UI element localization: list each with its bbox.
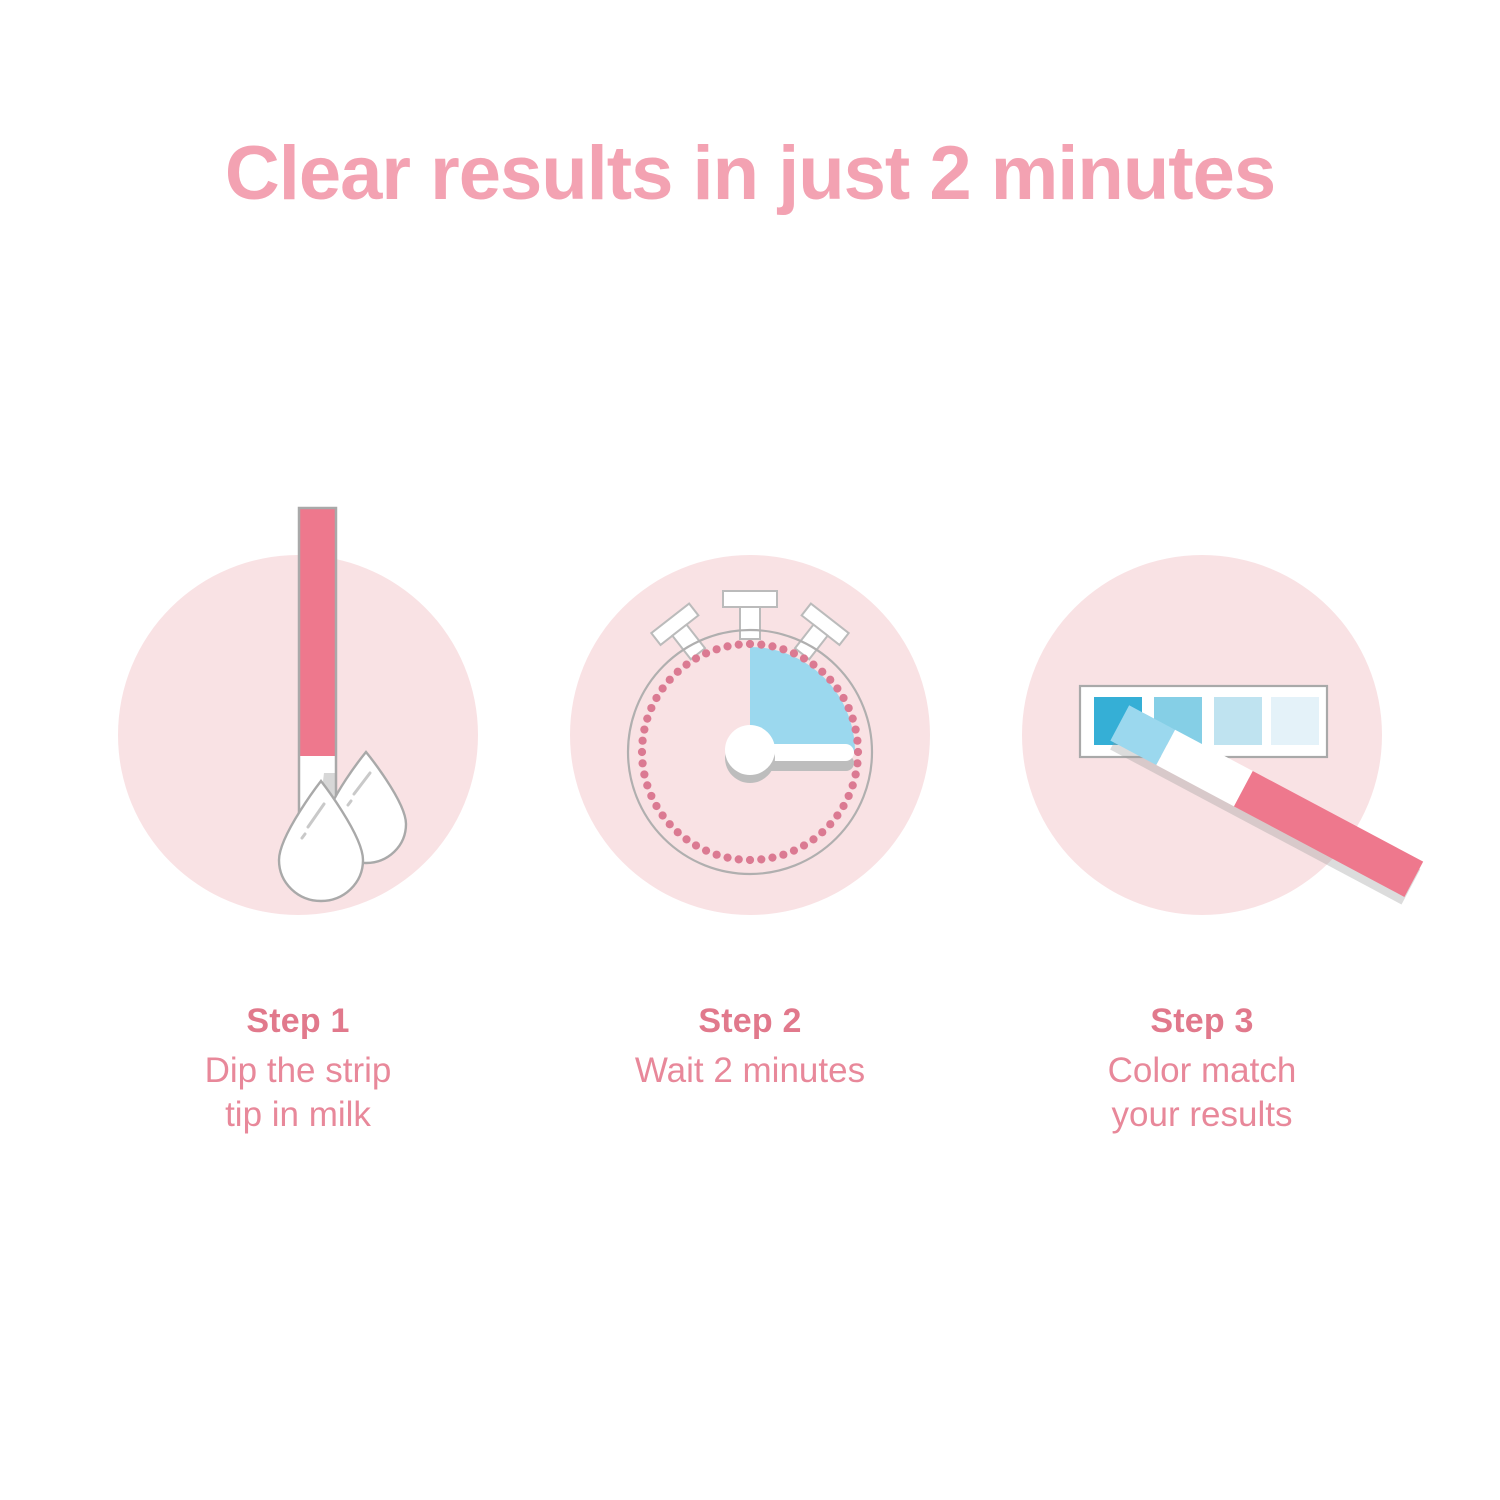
dial-dot [845, 792, 853, 800]
strip-pink-handle [299, 508, 336, 756]
dial-dot [692, 654, 700, 662]
dial-dot [849, 781, 857, 789]
dial-dot [640, 770, 648, 778]
dial-dot [853, 737, 861, 745]
dial-dot [845, 704, 853, 712]
dial-dot [839, 802, 847, 810]
step-2-illustration [570, 555, 930, 915]
dial-dot [833, 811, 841, 819]
dial-dot [779, 851, 787, 859]
dial-dot [692, 841, 700, 849]
step-3-label: Step 3 [972, 1002, 1432, 1041]
infographic-canvas: Clear results in just 2 minutes [0, 0, 1500, 1500]
dial-dot [647, 792, 655, 800]
step-column-3: Step 3 Color match your results [972, 0, 1432, 1500]
step-2-caption: Step 2 Wait 2 minutes [520, 1002, 980, 1093]
step-3-caption: Step 3 Color match your results [972, 1002, 1432, 1137]
dial-dot [800, 841, 808, 849]
steps-container: Step 1 Dip the strip tip in milk [0, 0, 1500, 1500]
dial-dot [666, 820, 674, 828]
step-1-label: Step 1 [68, 1002, 528, 1041]
dial-dot [702, 649, 710, 657]
dial-dot [852, 770, 860, 778]
step-1-description: Dip the strip tip in milk [68, 1049, 528, 1137]
dial-dot [790, 847, 798, 855]
dial-dot [826, 676, 834, 684]
step-column-2: Step 2 Wait 2 minutes [520, 0, 980, 1500]
dial-dot [790, 649, 798, 657]
step-2-label: Step 2 [520, 1002, 980, 1041]
dial-dot [647, 704, 655, 712]
color-swatch-3 [1214, 697, 1262, 745]
dial-dot [682, 661, 690, 669]
dial-dot [638, 759, 646, 767]
dial-dot [682, 835, 690, 843]
dial-dot [674, 668, 682, 676]
dial-dot [713, 645, 721, 653]
dial-dot [666, 676, 674, 684]
stopwatch-icon [628, 591, 872, 874]
dial-dot [854, 748, 862, 756]
dial-dot [809, 661, 817, 669]
dial-dot [640, 725, 648, 733]
dial-dot [659, 684, 667, 692]
dial-dot [746, 640, 754, 648]
step-1-caption: Step 1 Dip the strip tip in milk [68, 1002, 528, 1137]
strip-pink-handle [1234, 771, 1423, 897]
dial-dot [839, 694, 847, 702]
dial-dot [652, 802, 660, 810]
dial-dot [652, 694, 660, 702]
dial-dot [643, 715, 651, 723]
dial-dot [735, 855, 743, 863]
dial-dot [723, 854, 731, 862]
dial-dot [779, 645, 787, 653]
color-swatch-4 [1271, 697, 1319, 745]
dial-dot [852, 725, 860, 733]
dial-dot [659, 811, 667, 819]
step-3-description: Color match your results [972, 1049, 1432, 1137]
step-2-description: Wait 2 minutes [520, 1049, 980, 1093]
step-3-illustration [1022, 555, 1382, 915]
dial-dot [768, 854, 776, 862]
step-1-illustration [118, 555, 478, 915]
dial-dot [768, 642, 776, 650]
dial-dot [809, 835, 817, 843]
dial-dot [853, 759, 861, 767]
dial-dot [818, 668, 826, 676]
dial-dot [757, 640, 765, 648]
dial-dot [723, 642, 731, 650]
dial-dot [638, 748, 646, 756]
dial-dot [757, 855, 765, 863]
dial-dot [818, 828, 826, 836]
dial-dot [746, 856, 754, 864]
dial-dot [713, 851, 721, 859]
dial-dot [638, 737, 646, 745]
dial-dot [833, 684, 841, 692]
dial-dot [735, 640, 743, 648]
dial-dot [674, 828, 682, 836]
dial-dot [849, 715, 857, 723]
step-column-1: Step 1 Dip the strip tip in milk [68, 0, 528, 1500]
stopwatch-crown-left [651, 604, 717, 669]
dial-dot [826, 820, 834, 828]
dial-dot [643, 781, 651, 789]
stopwatch-hub [725, 725, 775, 775]
dial-dot [702, 847, 710, 855]
dial-dot [800, 654, 808, 662]
